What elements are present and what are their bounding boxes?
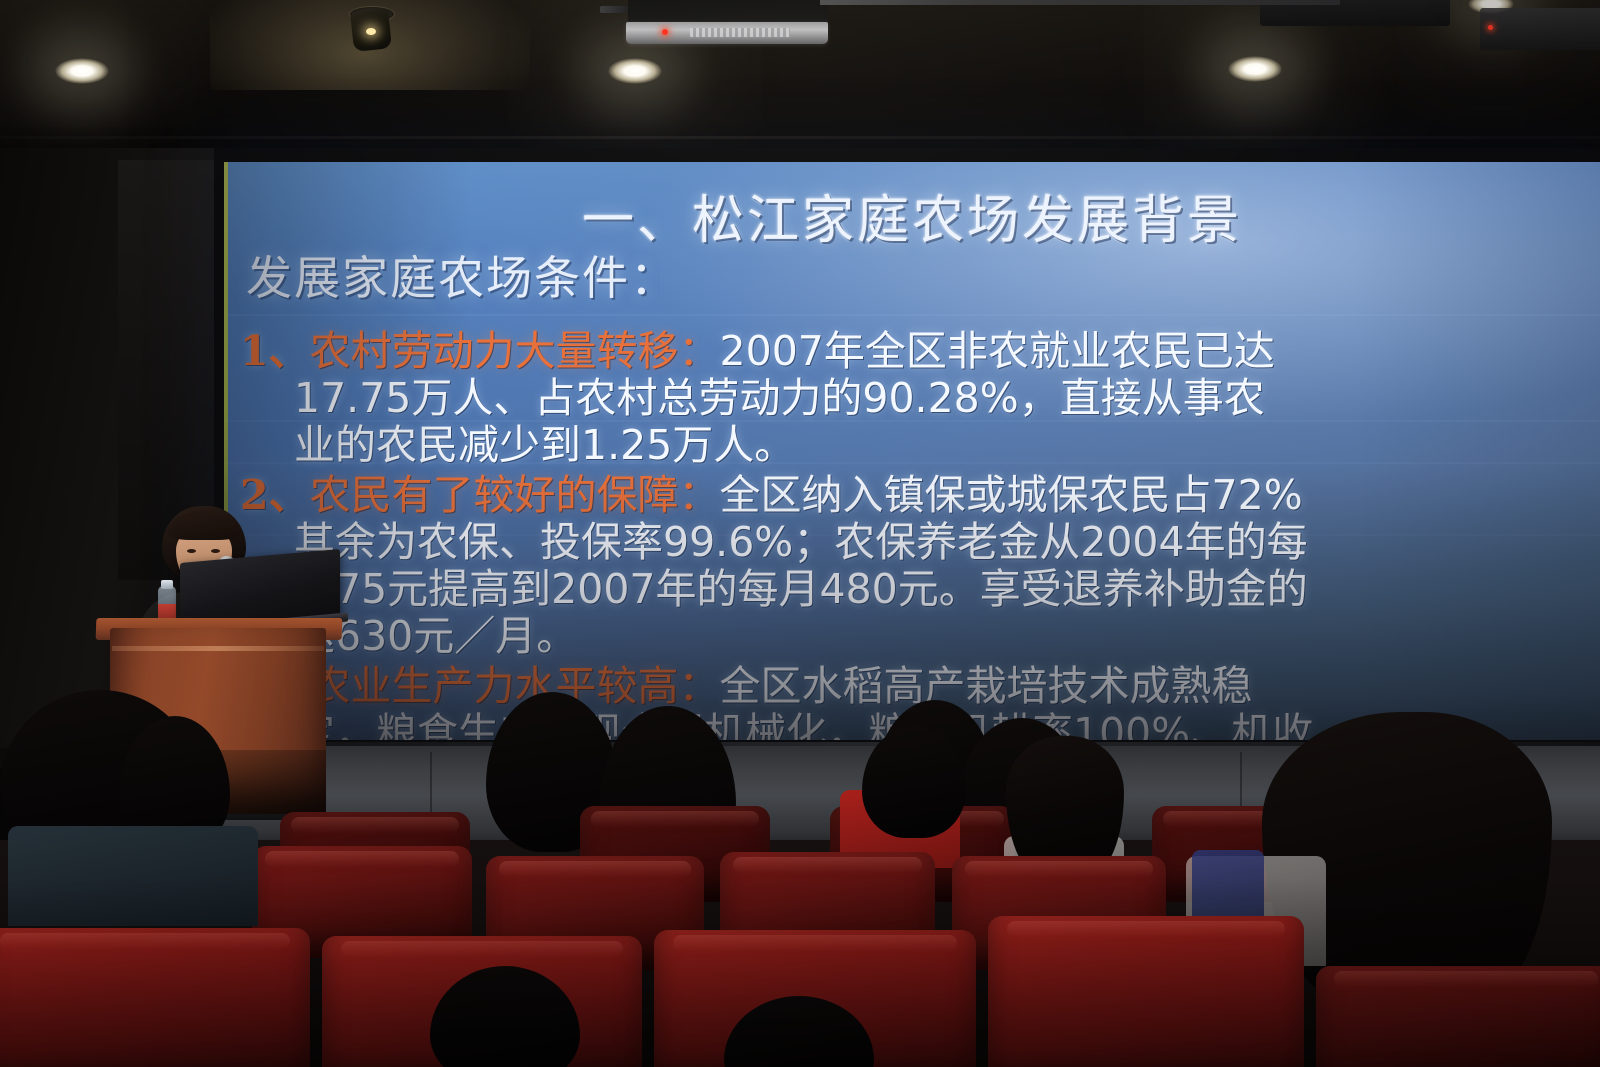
slide-bullet-item: 2、农民有了较好的保障：全区纳入镇保或城保农民占72% 其余为农保、投保率99.… bbox=[240, 472, 1600, 660]
speaker-eye bbox=[187, 549, 196, 553]
bullet-body-line: 全区纳入镇保或城保农民占72% bbox=[720, 471, 1303, 519]
seat-highlight bbox=[591, 811, 758, 827]
projector-mount-arm bbox=[600, 6, 630, 13]
audience-seat bbox=[1316, 966, 1600, 1067]
bullet-body-line: 业的农民减少到1.25万人。 bbox=[240, 422, 1600, 469]
speaker-eye bbox=[211, 549, 220, 553]
bullet-body-line: 2007年全区非农就业农民已达 bbox=[720, 327, 1275, 375]
lecture-hall-scene: 一、松江家庭农场发展背景 发展家庭农场条件： 1、农村劳动力大量转移：2007年… bbox=[0, 0, 1600, 1067]
audience-jacket bbox=[8, 826, 258, 926]
seat-highlight bbox=[341, 941, 623, 957]
projection-screen: 一、松江家庭农场发展背景 发展家庭农场条件： 1、农村劳动力大量转移：2007年… bbox=[224, 162, 1600, 740]
bullet-body-line: 达630元／月。 bbox=[240, 613, 1600, 660]
water-bottle-cap bbox=[161, 580, 173, 589]
bullet-number: 1、 bbox=[240, 327, 310, 375]
ceiling-downlight-icon bbox=[55, 58, 109, 84]
audience-head bbox=[1006, 736, 1124, 876]
ceiling-seam bbox=[0, 136, 1600, 139]
ceiling-downlight-icon bbox=[608, 58, 662, 84]
seat-highlight bbox=[965, 861, 1153, 877]
bullet-body-line: 月75元提高到2007年的每月480元。享受退养补助金的 bbox=[240, 566, 1600, 613]
projector-power-led-icon bbox=[662, 29, 668, 35]
seat-highlight bbox=[0, 933, 290, 949]
slide-bullet-list: 1、农村劳动力大量转移：2007年全区非农就业农民已达 17.75万人、占农村总… bbox=[240, 328, 1600, 740]
projector-vent bbox=[690, 28, 790, 37]
presentation-slide: 一、松江家庭农场发展背景 发展家庭农场条件： 1、农村劳动力大量转移：2007年… bbox=[224, 162, 1600, 740]
seat-highlight bbox=[499, 861, 691, 877]
bullet-body-line: 全区水稻高产栽培技术成熟稳 bbox=[720, 662, 1253, 710]
seat-highlight bbox=[1334, 971, 1598, 987]
slide-subtitle: 发展家庭农场条件： bbox=[246, 254, 678, 302]
slide-bullet-item: 1、农村劳动力大量转移：2007年全区非农就业农民已达 17.75万人、占农村总… bbox=[240, 328, 1600, 469]
slide-title: 一、松江家庭农场发展背景 bbox=[224, 194, 1600, 249]
ceiling-rail bbox=[820, 0, 1340, 5]
bullet-body-line: 其余为农保、投保率99.6%；农保养老金从2004年的每 bbox=[240, 519, 1600, 566]
fixture-led-icon bbox=[1488, 25, 1493, 30]
seat-highlight bbox=[291, 817, 458, 833]
lectern-edge-highlight bbox=[112, 646, 324, 651]
ceiling-downlight-icon bbox=[1228, 56, 1282, 82]
bullet-body-line: 17.75万人、占农村总劳动力的90.28%，直接从事农 bbox=[240, 375, 1600, 422]
seat-highlight bbox=[673, 935, 956, 951]
spotlight-hotspot bbox=[366, 28, 376, 35]
seat-highlight bbox=[733, 857, 922, 873]
audience-seat bbox=[0, 928, 310, 1067]
audience-seat bbox=[988, 916, 1304, 1067]
bullet-heading: 农村劳动力大量转移： bbox=[310, 327, 720, 375]
seat-highlight bbox=[265, 851, 459, 867]
seat-highlight bbox=[1007, 921, 1285, 937]
ceiling-fixture-right bbox=[1480, 8, 1600, 50]
